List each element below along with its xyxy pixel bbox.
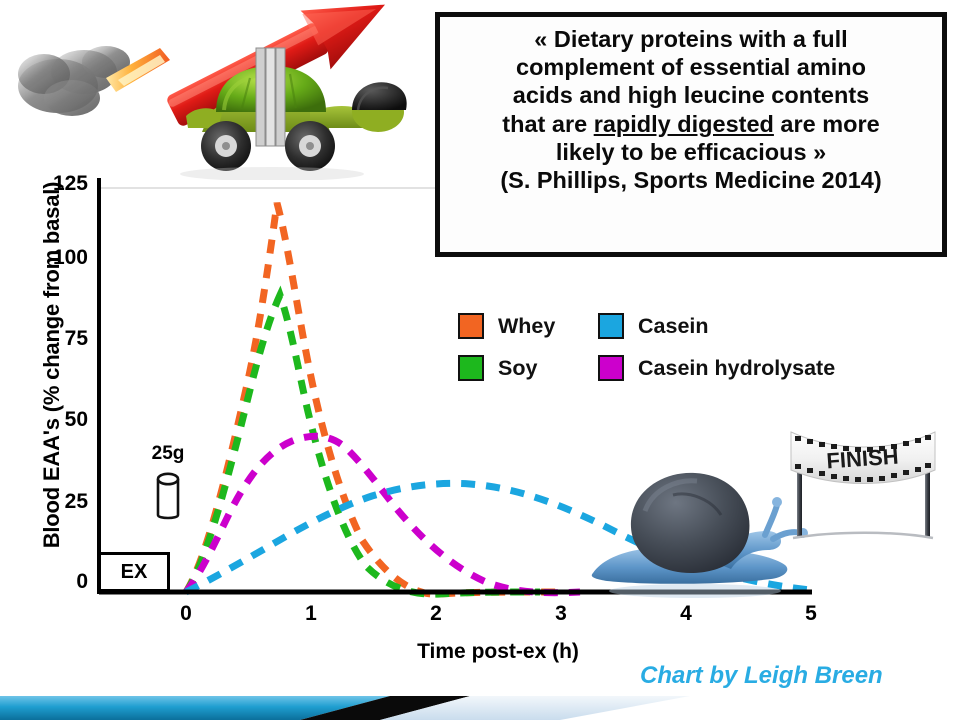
quote-line-4: that are rapidly digested are more (452, 110, 930, 138)
exercise-label: EX (121, 561, 148, 584)
chart-credit: Chart by Leigh Breen (640, 662, 883, 690)
legend-row: Whey Casein (458, 305, 878, 347)
legend-swatch-casein (598, 313, 624, 339)
quote-line-4-underlined: rapidly digested (594, 111, 774, 137)
series-line-whey (186, 203, 566, 594)
x-tick-3: 3 (541, 602, 581, 626)
dose-label: 25g (137, 444, 199, 463)
quote-citation: (S. Phillips, Sports Medicine 2014) (452, 166, 930, 194)
quote-line-3: acids and high leucine contents (452, 81, 930, 109)
legend-swatch-whey (458, 313, 484, 339)
legend-item-casein[interactable]: Casein (598, 313, 709, 339)
finish-label: FINISH (826, 444, 900, 474)
legend-item-casein-hydrolysate[interactable]: Casein hydrolysate (598, 355, 835, 381)
dose-marker: 25g (137, 444, 199, 530)
legend-swatch-casein-hydrolysate (598, 355, 624, 381)
quote-line-4-post: are more (774, 111, 880, 137)
quote-box: « Dietary proteins with a full complemen… (435, 12, 947, 257)
x-tick-4: 4 (666, 602, 706, 626)
legend-label-casein: Casein (638, 314, 709, 339)
quote-line-5: likely to be efficacious » (452, 138, 930, 166)
legend-row: Soy Casein hydrolysate (458, 347, 878, 389)
exercise-box: EX (98, 552, 170, 592)
slide-canvas: 125 100 75 50 25 0 0 1 2 3 4 5 Blood EAA… (0, 0, 960, 720)
footer-decoration (0, 690, 960, 720)
chart-legend: Whey Casein Soy Casein hydrolysate (458, 305, 878, 389)
x-tick-1: 1 (291, 602, 331, 626)
quote-line-1: « Dietary proteins with a full (452, 25, 930, 53)
legend-label-soy: Soy (498, 356, 537, 381)
x-axis-title: Time post-ex (h) (186, 640, 810, 664)
legend-item-soy[interactable]: Soy (458, 355, 598, 381)
x-tick-5: 5 (791, 602, 831, 626)
x-tick-2: 2 (416, 602, 456, 626)
x-tick-0: 0 (166, 602, 206, 626)
protein-shake-icon (147, 467, 189, 525)
legend-swatch-soy (458, 355, 484, 381)
y-axis-title: Blood EAA's (% change from basal) (39, 155, 65, 575)
legend-label-whey: Whey (498, 314, 555, 339)
finish-line-banner: FINISH (775, 418, 950, 548)
legend-label-casein-hydrolysate: Casein hydrolysate (638, 356, 835, 381)
quote-line-2: complement of essential amino (452, 53, 930, 81)
quote-line-4-pre: that are (502, 111, 593, 137)
legend-item-whey[interactable]: Whey (458, 313, 598, 339)
